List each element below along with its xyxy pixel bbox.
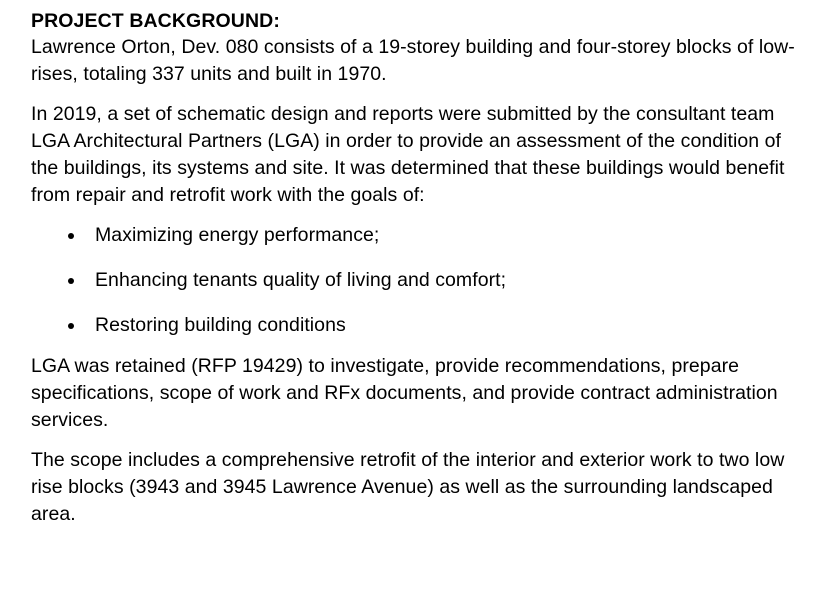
list-item-label: Maximizing energy performance; [95,224,379,246]
list-item: Restoring building conditions [31,312,800,339]
paragraph-project-description: Lawrence Orton, Dev. 080 consists of a 1… [31,34,800,88]
bullet-dot-icon [68,278,74,284]
bullet-dot-icon [68,233,74,239]
list-item: Maximizing energy performance; [31,222,800,249]
list-item-label: Restoring building conditions [95,314,346,336]
page-title: PROJECT BACKGROUND: [31,8,800,34]
document-page: PROJECT BACKGROUND: Lawrence Orton, Dev.… [0,0,825,595]
paragraph-consultant-assessment: In 2019, a set of schematic design and r… [31,101,800,209]
list-item: Enhancing tenants quality of living and … [31,267,800,294]
bullet-dot-icon [68,323,74,329]
paragraph-scope: The scope includes a comprehensive retro… [31,447,800,528]
list-item-label: Enhancing tenants quality of living and … [95,269,506,291]
paragraph-lga-retained: LGA was retained (RFP 19429) to investig… [31,353,800,434]
goals-bullet-list: Maximizing energy performance; Enhancing… [31,222,800,339]
